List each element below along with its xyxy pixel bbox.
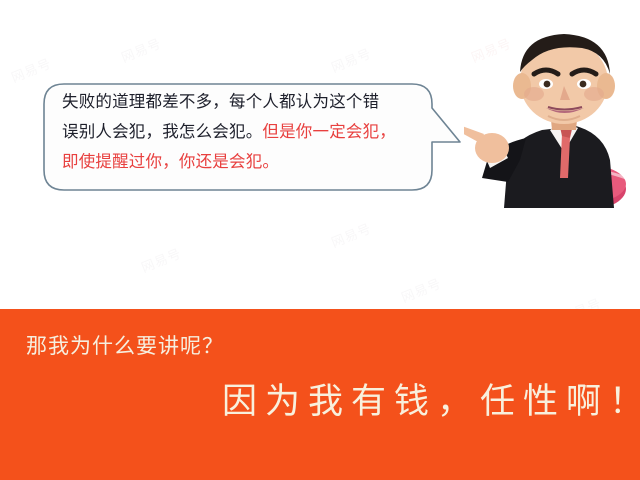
bubble-line-3: 即使提醒过你，你还是会犯。	[62, 147, 422, 177]
bubble-text-block: 失败的道理都差不多，每个人都认为这个错 误别人会犯，我怎么会犯。但是你一定会犯，…	[62, 87, 422, 177]
cheek-right	[584, 87, 604, 101]
watermark: 网易号	[328, 218, 374, 251]
slide-canvas: 网易号 网易号 网易号 网易号 网易号 网易号 网易号 网易号 失败的道理都差不…	[0, 0, 640, 480]
bubble-line-1: 失败的道理都差不多，每个人都认为这个错	[62, 87, 422, 117]
caricature-illustration	[464, 26, 640, 208]
watermark: 网易号	[328, 43, 374, 76]
bubble-line-2: 误别人会犯，我怎么会犯。但是你一定会犯，	[62, 117, 422, 147]
orange-caption-band: 网易号 网易号 网易号 网易号 那我为什么要讲呢？ 因为我有钱，任性啊！	[0, 309, 640, 480]
bubble-line-2-plain: 误别人会犯，我怎么会犯。	[62, 123, 262, 141]
pupil-left	[544, 81, 551, 88]
watermark: 网易号	[138, 243, 184, 276]
pointing-finger	[464, 126, 484, 143]
pupil-right	[580, 81, 587, 88]
speech-bubble: 失败的道理都差不多，每个人都认为这个错 误别人会犯，我怎么会犯。但是你一定会犯，…	[44, 82, 436, 192]
cheek-left	[524, 87, 544, 101]
band-punchline-text: 因为我有钱，任性啊！	[222, 379, 640, 425]
bubble-line-2-highlight: 但是你一定会犯，	[262, 123, 396, 141]
band-question-text: 那我为什么要讲呢？	[26, 333, 224, 361]
caricature-figure	[464, 26, 640, 208]
watermark: 网易号	[398, 273, 444, 306]
watermark: 网易号	[118, 33, 164, 66]
